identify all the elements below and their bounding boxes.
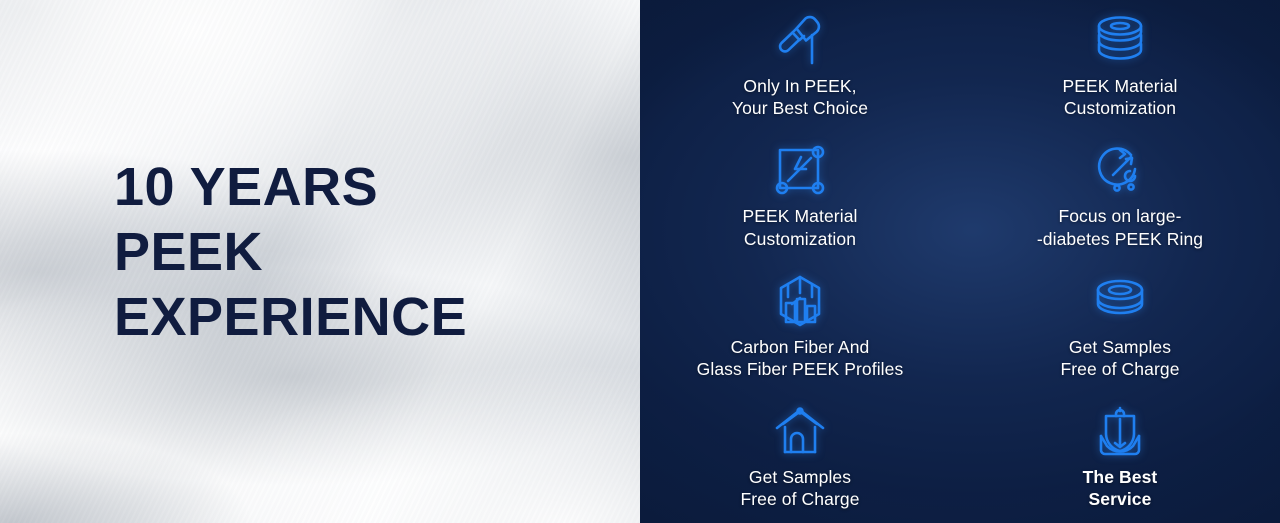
feature-item-get-samples-free-1[interactable]: Get Samples Free of Charge: [960, 263, 1280, 393]
feature-item-focus-large-diabetes-peek-ring[interactable]: Focus on large- -diabetes PEEK Ring: [960, 132, 1280, 262]
stacked-discs-icon: [1091, 10, 1149, 70]
feature-label: Get Samples Free of Charge: [1060, 336, 1179, 381]
hand-holding-shield-icon: [1093, 401, 1147, 461]
feature-label: PEEK Material Customization: [1062, 75, 1177, 120]
feature-item-only-in-peek[interactable]: Only In PEEK, Your Best Choice: [640, 2, 960, 132]
feature-label: Carbon Fiber And Glass Fiber PEEK Profil…: [697, 336, 904, 381]
feature-label: PEEK Material Customization: [742, 205, 857, 250]
promo-banner: 10 YEARS PEEK EXPERIENCE Only In PEEK, Y…: [0, 0, 1280, 523]
feature-label: Get Samples Free of Charge: [740, 466, 859, 511]
feature-item-get-samples-free-2[interactable]: Get Samples Free of Charge: [640, 393, 960, 523]
house-icon: [772, 401, 828, 461]
headline-line-2: PEEK: [114, 225, 467, 279]
cylinder-disc-icon: [1091, 271, 1149, 331]
feature-item-carbon-glass-fiber-profiles[interactable]: Carbon Fiber And Glass Fiber PEEK Profil…: [640, 263, 960, 393]
headline-line-1: 10 YEARS: [114, 160, 467, 214]
feature-label: The Best Service: [1083, 466, 1158, 511]
headline-line-3: EXPERIENCE: [114, 290, 467, 344]
ring-swoosh-icon: [1093, 140, 1147, 200]
feature-item-peek-material-customization-2[interactable]: PEEK Material Customization: [640, 132, 960, 262]
dental-mirror-icon: [772, 10, 828, 70]
page-title: 10 YEARS PEEK EXPERIENCE: [114, 160, 467, 344]
feature-grid: Only In PEEK, Your Best Choice PEEK Mate…: [640, 0, 1280, 523]
left-hero-panel: 10 YEARS PEEK EXPERIENCE: [0, 0, 640, 523]
feature-label: Focus on large- -diabetes PEEK Ring: [1037, 205, 1203, 250]
feature-item-the-best-service[interactable]: The Best Service: [960, 393, 1280, 523]
feature-label: Only In PEEK, Your Best Choice: [732, 75, 868, 120]
hexagon-profiles-icon: [773, 271, 827, 331]
feature-item-peek-material-customization-1[interactable]: PEEK Material Customization: [960, 2, 1280, 132]
transform-handles-icon: [773, 140, 827, 200]
right-features-panel: Only In PEEK, Your Best Choice PEEK Mate…: [640, 0, 1280, 523]
